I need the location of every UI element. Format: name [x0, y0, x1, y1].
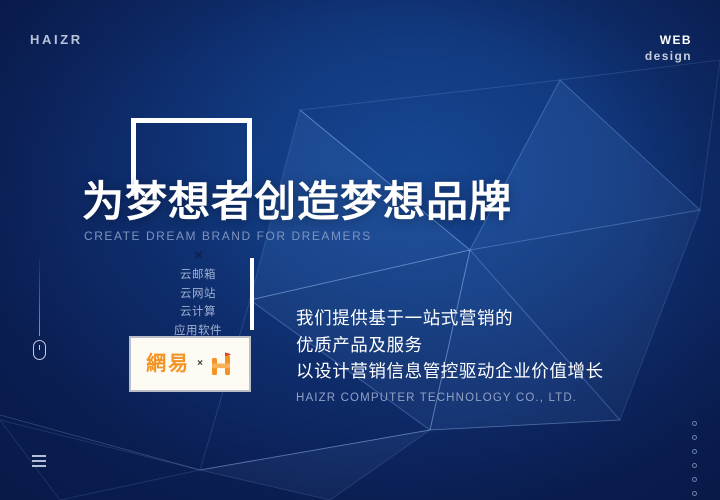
haizr-h-logo-icon — [210, 351, 234, 377]
pager-dot[interactable] — [692, 477, 697, 482]
slide-pager — [692, 421, 697, 496]
pitch-line: 我们提供基于一站式营销的 — [296, 305, 604, 332]
background-vignette — [0, 0, 720, 500]
netease-logo: 網易 — [146, 354, 190, 374]
scroll-hint-line — [39, 258, 40, 336]
pager-dot[interactable] — [692, 491, 697, 496]
company-name: HAIZR COMPUTER TECHNOLOGY CO., LTD. — [296, 390, 604, 407]
corner-label-line1: WEB — [645, 32, 692, 48]
pager-dot[interactable] — [692, 463, 697, 468]
page-subtitle: CREATE DREAM BRAND FOR DREAMERS — [84, 229, 372, 243]
pager-dot[interactable] — [692, 435, 697, 440]
pitch-line: 优质产品及服务 — [296, 332, 604, 359]
pitch-line: 以设计营销信息管控驱动企业价值增长 — [296, 358, 604, 385]
pager-dot[interactable] — [692, 421, 697, 426]
slide-canvas: HAIZR WEB design 为梦想者创造梦想品牌 CREATE DREAM… — [0, 0, 720, 500]
list-item[interactable]: 云邮箱 — [150, 266, 246, 285]
column-divider — [250, 258, 254, 330]
mouse-scroll-icon[interactable] — [33, 340, 46, 360]
list-item[interactable]: 云网站 — [150, 285, 246, 304]
service-link-list: 云邮箱 云网站 云计算 应用软件 — [150, 250, 246, 341]
partner-logo-box: 網易 × — [129, 336, 251, 392]
pitch-block: 我们提供基于一站式营销的 优质产品及服务 以设计营销信息管控驱动企业价值增长 H… — [296, 305, 604, 407]
brand-logo[interactable]: HAIZR — [30, 32, 83, 47]
x-marker-icon — [194, 250, 203, 259]
corner-label: WEB design — [645, 32, 692, 64]
page-title: 为梦想者创造梦想品牌 — [82, 180, 512, 224]
pager-dot[interactable] — [692, 449, 697, 454]
list-item[interactable]: 云计算 — [150, 303, 246, 322]
cross-separator-icon: × — [197, 359, 203, 369]
corner-label-line2: design — [645, 48, 692, 64]
hamburger-menu-icon[interactable] — [32, 455, 46, 467]
